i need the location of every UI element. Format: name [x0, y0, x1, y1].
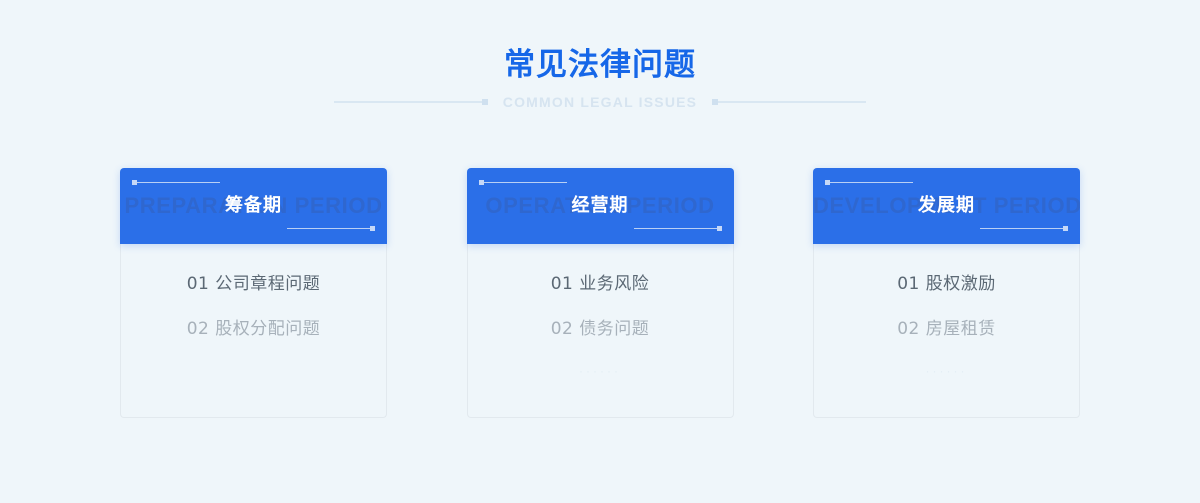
line-end-square-icon	[132, 180, 137, 185]
line-end-square-icon	[1063, 226, 1068, 231]
card-header-operation: OPERATION PERIOD 经营期	[467, 168, 734, 244]
page-title: 常见法律问题	[0, 44, 1200, 86]
page-subtitle: COMMON LEGAL ISSUES	[487, 94, 713, 110]
header-line-bottom-right-icon	[980, 226, 1068, 232]
issue-card-development[interactable]: DEVELOPMENT PERIOD 发展期 01 股权激励 02 房屋租赁 ·…	[813, 168, 1080, 418]
issue-card-operation[interactable]: OPERATION PERIOD 经营期 01 业务风险 02 债务问题 ···…	[467, 168, 734, 418]
subtitle-row: COMMON LEGAL ISSUES	[0, 94, 1200, 110]
divider-dot-icon	[712, 99, 718, 105]
issue-item[interactable]: 02 债务问题	[468, 317, 733, 341]
card-stage-title: 筹备期	[120, 193, 387, 219]
card-header-development: DEVELOPMENT PERIOD 发展期	[813, 168, 1080, 244]
issue-more-ellipsis: ······	[814, 363, 1079, 379]
header-line-bottom-right-icon	[634, 226, 722, 232]
line-end-square-icon	[825, 180, 830, 185]
card-body-operation: 01 业务风险 02 债务问题 ······	[467, 244, 734, 418]
header-line-top-left-icon	[132, 180, 220, 186]
divider-dot-icon	[482, 99, 488, 105]
issue-item[interactable]: 01 公司章程问题	[121, 272, 386, 296]
line-end-square-icon	[717, 226, 722, 231]
card-header-preparation: PREPARATION PERIOD 筹备期	[120, 168, 387, 244]
issue-more-ellipsis	[121, 363, 386, 379]
header-line-top-left-icon	[479, 180, 567, 186]
issue-card-preparation[interactable]: PREPARATION PERIOD 筹备期 01 公司章程问题 02 股权分配…	[120, 168, 387, 418]
header-line-bottom-right-icon	[287, 226, 375, 232]
page-header: 常见法律问题 COMMON LEGAL ISSUES	[0, 44, 1200, 110]
issue-item[interactable]: 01 股权激励	[814, 272, 1079, 296]
issue-more-ellipsis: ······	[468, 363, 733, 379]
issue-cards-container: PREPARATION PERIOD 筹备期 01 公司章程问题 02 股权分配…	[120, 168, 1080, 418]
card-stage-title: 发展期	[813, 193, 1080, 219]
header-line-top-left-icon	[825, 180, 913, 186]
title-divider-left-icon	[334, 96, 487, 108]
line-end-square-icon	[479, 180, 484, 185]
card-stage-title: 经营期	[467, 193, 734, 219]
card-body-preparation: 01 公司章程问题 02 股权分配问题	[120, 244, 387, 418]
line-end-square-icon	[370, 226, 375, 231]
title-divider-right-icon	[713, 96, 866, 108]
issue-item[interactable]: 02 股权分配问题	[121, 317, 386, 341]
card-body-development: 01 股权激励 02 房屋租赁 ······	[813, 244, 1080, 418]
issue-item[interactable]: 02 房屋租赁	[814, 317, 1079, 341]
issue-item[interactable]: 01 业务风险	[468, 272, 733, 296]
